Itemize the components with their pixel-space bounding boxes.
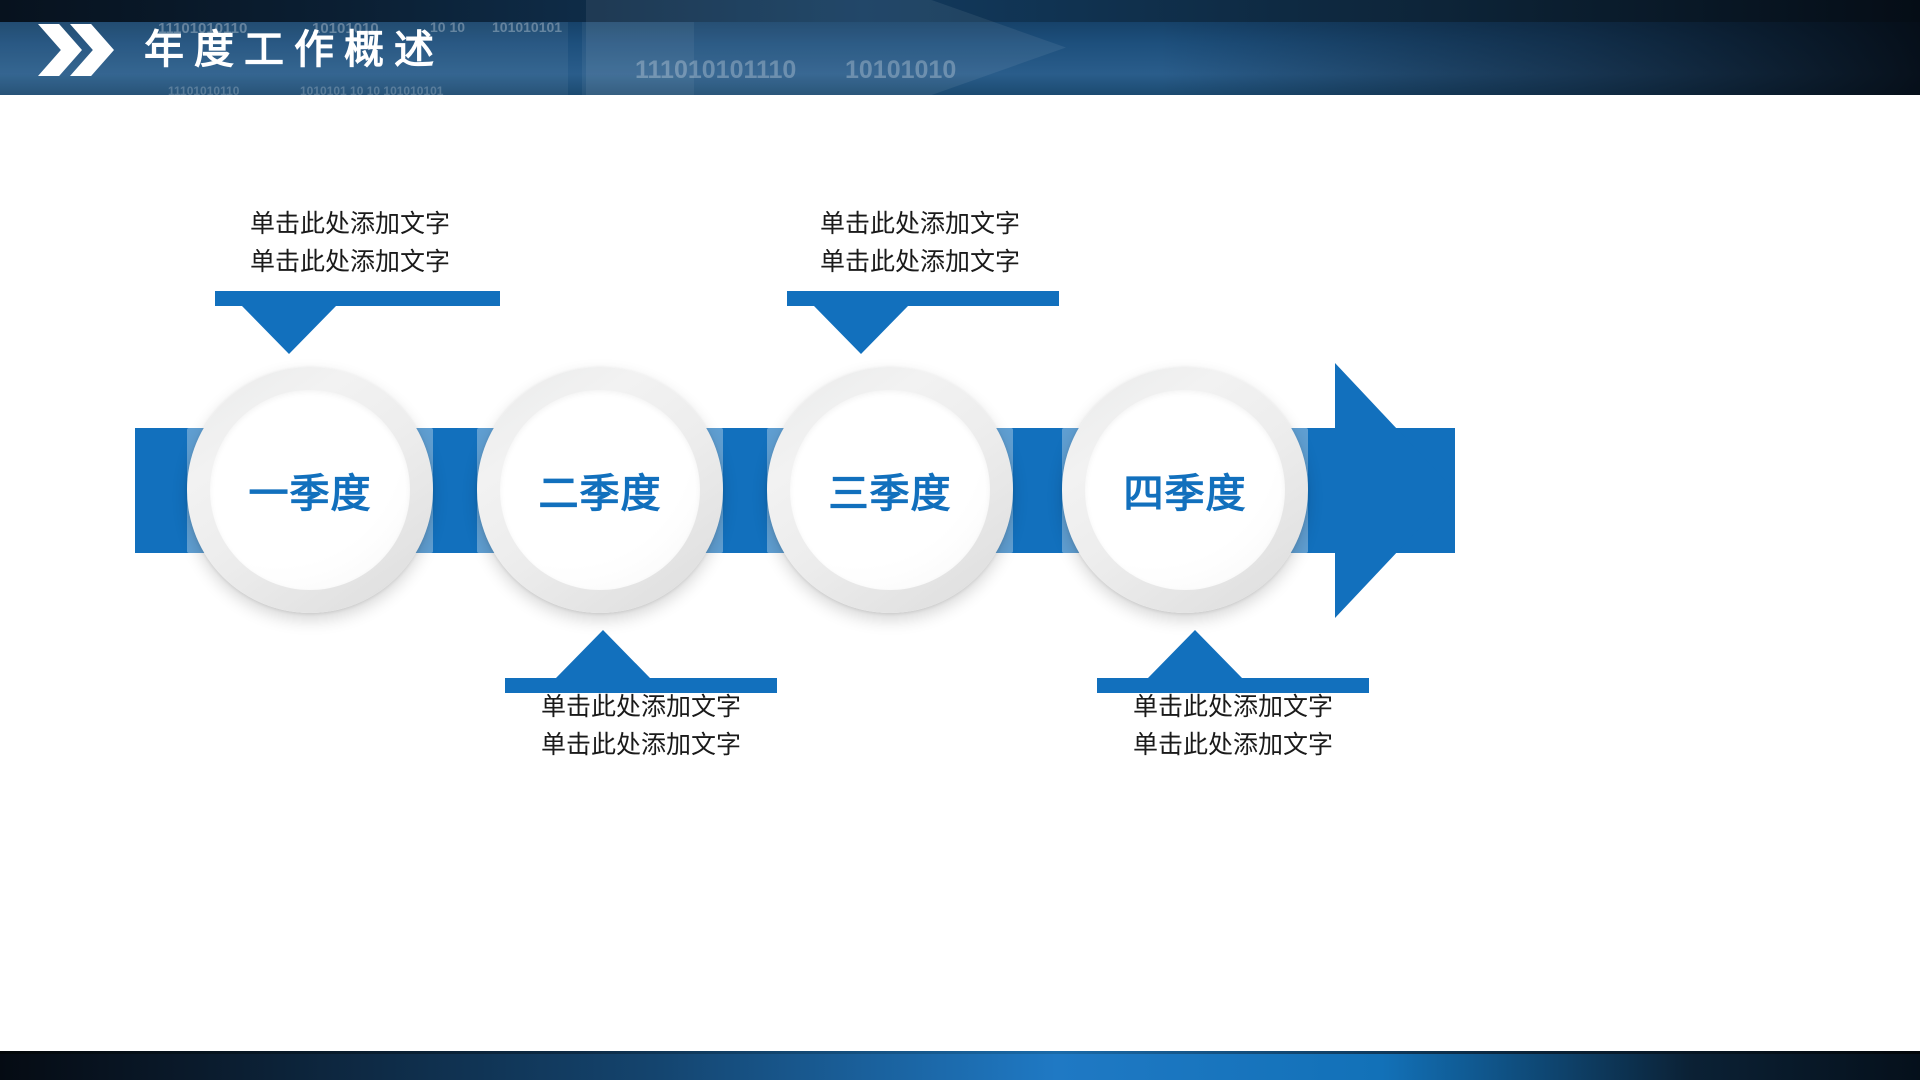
node-quarter-3[interactable]: 三季度 [767, 367, 1013, 613]
callout-2[interactable]: 单击此处添加文字 单击此处添加文字 [411, 688, 871, 764]
page-title: 年度工作概述 [144, 25, 444, 75]
header-right-fade [1160, 22, 1920, 95]
node-quarter-1[interactable]: 一季度 [187, 367, 433, 613]
callout-1-bar [215, 291, 500, 306]
callout-3[interactable]: 单击此处添加文字 单击此处添加文字 [690, 205, 1150, 281]
header-binary-h: 1010101 10 10 101010101 [300, 84, 443, 95]
node-quarter-4[interactable]: 四季度 [1062, 367, 1308, 613]
node-2-inner-circle: 二季度 [500, 390, 700, 590]
node-1-label: 一季度 [249, 461, 372, 519]
process-diagram: 单击此处添加文字 单击此处添加文字 单击此处添加文字 单击此处添加文字 一季度 … [0, 95, 1920, 1054]
callout-2-pointer-icon [556, 630, 650, 678]
header-binary-e: 111010101110 [635, 56, 796, 85]
callout-4-line-2: 单击此处添加文字 [1003, 726, 1463, 764]
node-4-label: 四季度 [1124, 461, 1247, 519]
callout-1[interactable]: 单击此处添加文字 单击此处添加文字 [120, 205, 580, 281]
slide-header: 11101010110 10101010 10 10 101010101 111… [0, 0, 1920, 95]
node-4-inner-circle: 四季度 [1085, 390, 1285, 590]
callout-3-bar [787, 291, 1059, 306]
slide-footer [0, 1054, 1920, 1080]
node-3-label: 三季度 [829, 461, 952, 519]
callout-1-line-1: 单击此处添加文字 [120, 205, 580, 243]
node-1-inner-circle: 一季度 [210, 390, 410, 590]
node-2-label: 二季度 [539, 461, 662, 519]
callout-2-line-2: 单击此处添加文字 [411, 726, 871, 764]
callout-1-pointer-icon [242, 306, 336, 354]
callout-3-line-2: 单击此处添加文字 [690, 243, 1150, 281]
callout-4[interactable]: 单击此处添加文字 单击此处添加文字 [1003, 688, 1463, 764]
header-binary-d: 101010101 [492, 19, 562, 35]
callout-3-pointer-icon [814, 306, 908, 354]
callout-4-pointer-icon [1148, 630, 1242, 678]
header-binary-g: 11101010110 [168, 84, 239, 95]
header-binary-f: 10101010 [845, 56, 956, 85]
callout-2-line-1: 单击此处添加文字 [411, 688, 871, 726]
callout-4-line-1: 单击此处添加文字 [1003, 688, 1463, 726]
node-3-inner-circle: 三季度 [790, 390, 990, 590]
double-chevron-right-icon [38, 24, 138, 76]
callout-3-line-1: 单击此处添加文字 [690, 205, 1150, 243]
timeline-arrow-head [1335, 363, 1455, 618]
node-quarter-2[interactable]: 二季度 [477, 367, 723, 613]
chevron-right-icon-1 [38, 24, 82, 76]
callout-1-line-2: 单击此处添加文字 [120, 243, 580, 281]
